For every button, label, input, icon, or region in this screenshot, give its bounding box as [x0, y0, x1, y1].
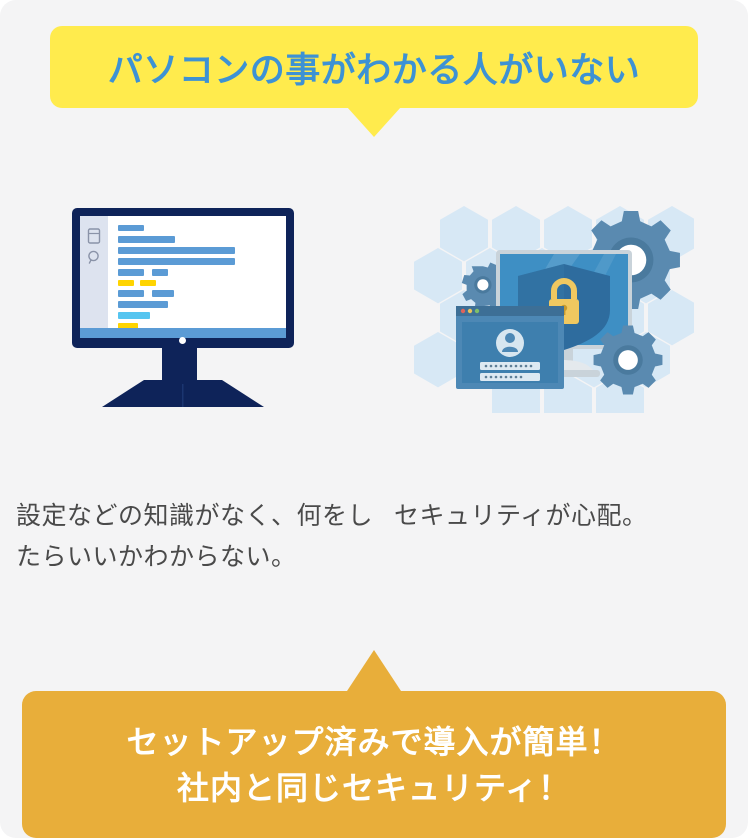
monitor-stand-neck-icon: [162, 348, 197, 384]
content-bar-accent: [118, 312, 150, 319]
banner-down-pointer-icon: [347, 107, 401, 137]
search-icon: [87, 250, 101, 266]
window-minimize-dot-icon: [468, 309, 472, 313]
banner-up-pointer-icon: [347, 650, 401, 691]
caption-row: 設定などの知識がなく、何をしたらいいかわからない。 セキュリティが心配。: [0, 482, 748, 642]
top-banner-section: パソコンの事がわかる人がいない: [0, 0, 748, 140]
content-bar: [118, 290, 144, 297]
desktop-monitor-illustration: [72, 208, 304, 408]
content-bar: [152, 269, 168, 276]
content-bar: [152, 290, 174, 297]
window-maximize-dot-icon: [475, 309, 479, 313]
content-bar: [118, 225, 144, 231]
content-bar-highlight: [118, 280, 134, 286]
monitor-stand-base-icon: [72, 380, 294, 407]
content-bar: [118, 236, 175, 243]
content-bar: [118, 301, 168, 308]
content-bar: [118, 258, 235, 265]
security-illustration: [404, 198, 694, 413]
problem-headline-text: パソコンの事がわかる人がいない: [108, 42, 641, 93]
content-bar: [118, 247, 235, 254]
solution-banner: セットアップ済みで導入が簡単！ 社内と同じセキュリティ！: [22, 691, 726, 838]
illustration-row: [0, 150, 748, 450]
monitor-screen: [80, 216, 286, 328]
solution-line-2: 社内と同じセキュリティ！: [177, 765, 571, 811]
content-bar-highlight: [140, 280, 156, 286]
problem-headline-banner: パソコンの事がわかる人がいない: [50, 26, 698, 108]
content-bar: [118, 269, 144, 276]
document-icon: [87, 228, 101, 244]
caption-left-text: 設定などの知識がなく、何をしたらいいかわからない。: [16, 496, 376, 578]
gear-icon: [594, 326, 663, 395]
promo-panel: パソコンの事がわかる人がいない: [0, 0, 748, 838]
monitor-power-dot-icon: [179, 337, 186, 344]
solution-line-1: セットアップ済みで導入が簡単！: [126, 719, 621, 765]
security-illustration-svg: [404, 198, 694, 413]
window-close-dot-icon: [461, 309, 465, 313]
login-window: [456, 306, 564, 389]
login-window-titlebar: [456, 306, 564, 316]
caption-right-text: セキュリティが心配。: [394, 496, 734, 537]
